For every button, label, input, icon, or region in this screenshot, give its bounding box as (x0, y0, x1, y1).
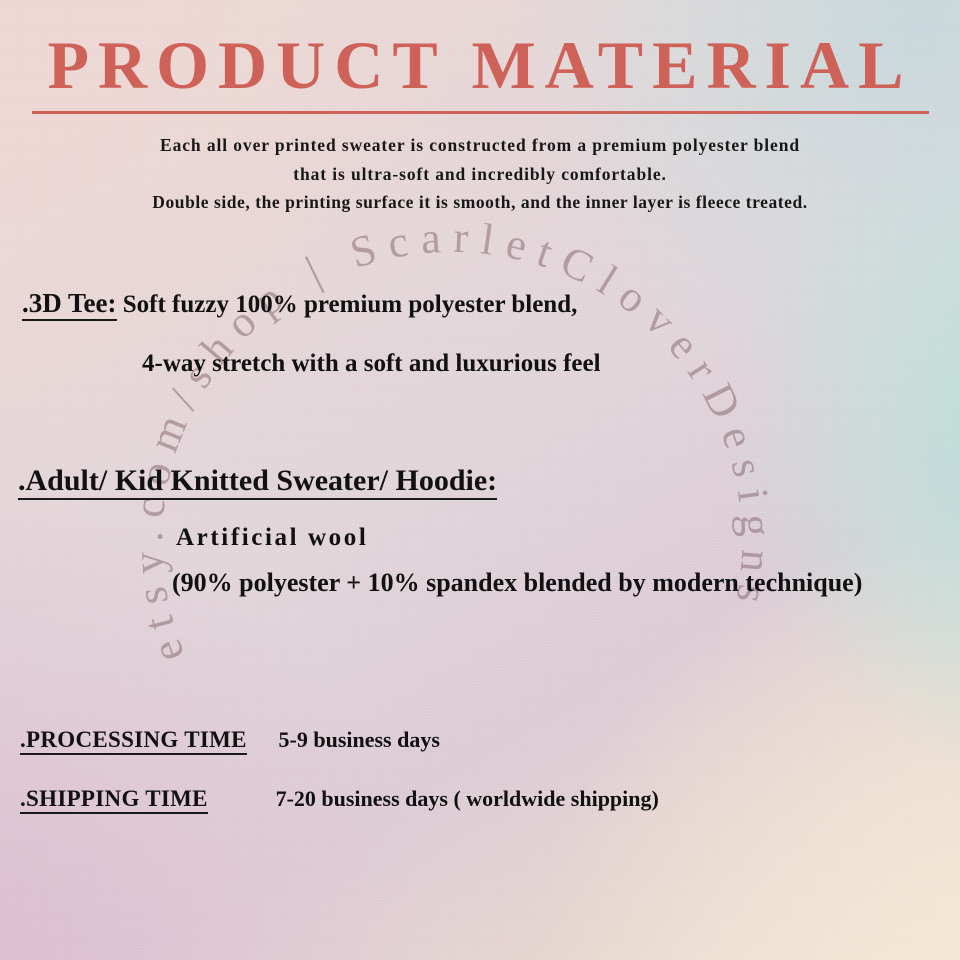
section-sweater-hoodie: .Adult/ Kid Knitted Sweater/ Hoodie: (18, 464, 497, 498)
shipping-time-value: 7-20 business days ( worldwide shipping) (276, 786, 659, 811)
intro-line-1: Each all over printed sweater is constru… (30, 131, 930, 160)
section-3d-tee: .3D Tee: Soft fuzzy 100% premium polyest… (22, 288, 577, 319)
shipping-time-row: .SHIPPING TIME 7-20 business days ( worl… (20, 786, 659, 812)
section-sweater-hoodie-detail: (90% polyester + 10% spandex blended by … (172, 568, 862, 598)
intro-paragraph: Each all over printed sweater is constru… (30, 131, 930, 217)
section-sweater-hoodie-label: .Adult/ Kid Knitted Sweater/ Hoodie: (18, 464, 497, 500)
processing-time-row: .PROCESSING TIME 5-9 business days (20, 727, 440, 753)
page-title: PRODUCT MATERIAL (0, 30, 960, 101)
section-sweater-hoodie-value: Artificial wool (176, 524, 368, 552)
header: PRODUCT MATERIAL (0, 30, 960, 114)
section-3d-tee-label: .3D Tee: (22, 288, 117, 321)
title-underline-rule (32, 111, 929, 114)
section-3d-tee-detail: 4-way stretch with a soft and luxurious … (142, 350, 601, 378)
processing-time-label: .PROCESSING TIME (20, 727, 247, 755)
product-material-graphic: etsy.com/shop | ScarletCloverDesigns PRO… (0, 0, 960, 960)
section-3d-tee-value: Soft fuzzy 100% premium polyester blend, (123, 291, 578, 318)
shipping-time-label: .SHIPPING TIME (20, 786, 208, 814)
processing-time-value: 5-9 business days (279, 727, 440, 752)
intro-line-2: that is ultra-soft and incredibly comfor… (30, 160, 930, 189)
intro-line-3: Double side, the printing surface it is … (30, 188, 930, 217)
